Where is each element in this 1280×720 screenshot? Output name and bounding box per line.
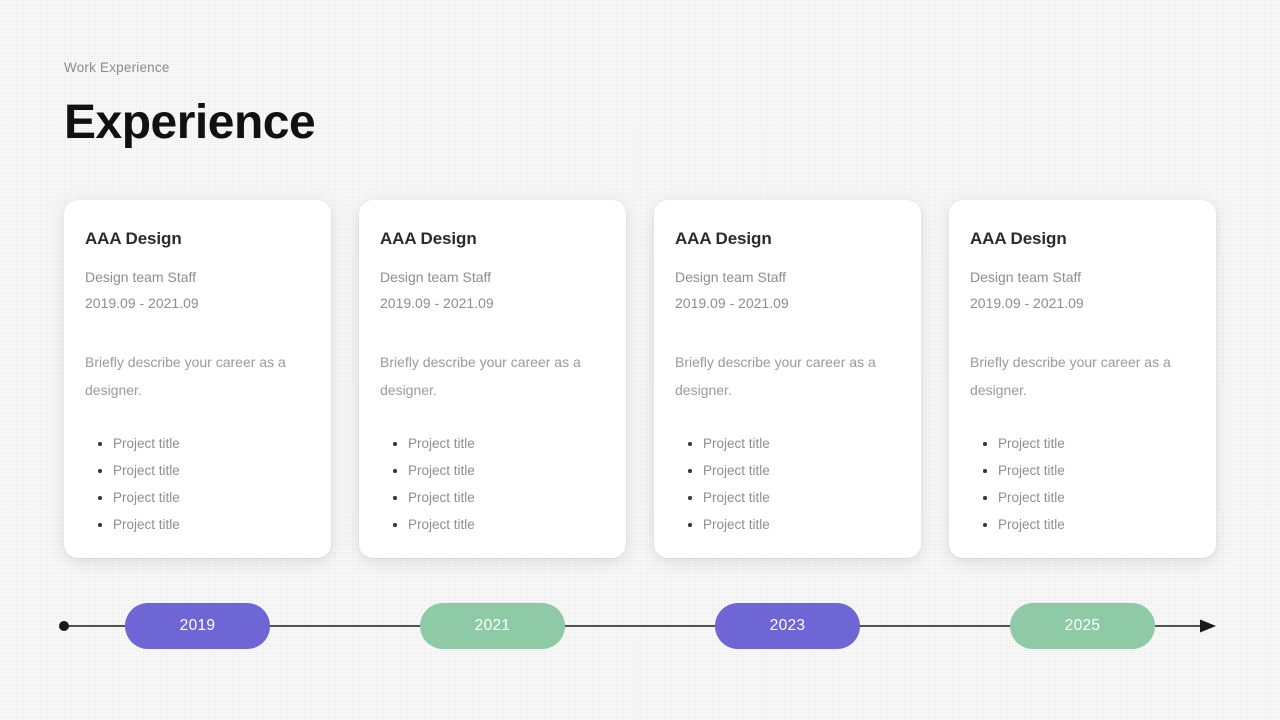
list-item: Project title — [970, 511, 1194, 538]
timeline-marker-2021[interactable]: 2021 — [420, 603, 565, 649]
list-item: Project title — [85, 484, 309, 511]
list-item: Project title — [380, 457, 604, 484]
card-dates: 2019.09 - 2021.09 — [970, 290, 1194, 316]
slide-header: Work Experience Experience — [64, 58, 315, 152]
list-item: Project title — [380, 511, 604, 538]
experience-card[interactable]: AAA Design Design team Staff 2019.09 - 2… — [64, 200, 331, 558]
card-project-list: Project title Project title Project titl… — [970, 430, 1194, 538]
card-description: Briefly describe your career as a design… — [380, 348, 590, 404]
list-item: Project title — [675, 457, 899, 484]
experience-cards-row: AAA Design Design team Staff 2019.09 - 2… — [64, 200, 1216, 558]
card-project-list: Project title Project title Project titl… — [85, 430, 309, 538]
card-company-name: AAA Design — [970, 228, 1194, 250]
list-item: Project title — [85, 430, 309, 457]
card-role: Design team Staff — [675, 264, 899, 290]
eyebrow-label: Work Experience — [64, 58, 315, 78]
list-item: Project title — [970, 484, 1194, 511]
card-dates: 2019.09 - 2021.09 — [380, 290, 604, 316]
card-company-name: AAA Design — [380, 228, 604, 250]
list-item: Project title — [675, 484, 899, 511]
card-description: Briefly describe your career as a design… — [675, 348, 885, 404]
list-item: Project title — [970, 430, 1194, 457]
card-company-name: AAA Design — [85, 228, 309, 250]
card-project-list: Project title Project title Project titl… — [380, 430, 604, 538]
experience-card[interactable]: AAA Design Design team Staff 2019.09 - 2… — [359, 200, 626, 558]
list-item: Project title — [85, 457, 309, 484]
list-item: Project title — [380, 430, 604, 457]
card-role: Design team Staff — [85, 264, 309, 290]
timeline-start-dot — [59, 621, 69, 631]
card-project-list: Project title Project title Project titl… — [675, 430, 899, 538]
card-dates: 2019.09 - 2021.09 — [85, 290, 309, 316]
experience-card[interactable]: AAA Design Design team Staff 2019.09 - 2… — [654, 200, 921, 558]
card-role: Design team Staff — [970, 264, 1194, 290]
list-item: Project title — [380, 484, 604, 511]
timeline-end-arrow-icon — [1200, 620, 1216, 633]
timeline-marker-2025[interactable]: 2025 — [1010, 603, 1155, 649]
experience-card[interactable]: AAA Design Design team Staff 2019.09 - 2… — [949, 200, 1216, 558]
card-description: Briefly describe your career as a design… — [85, 348, 295, 404]
slide-root: Work Experience Experience AAA Design De… — [0, 0, 1280, 720]
card-dates: 2019.09 - 2021.09 — [675, 290, 899, 316]
list-item: Project title — [675, 511, 899, 538]
list-item: Project title — [85, 511, 309, 538]
card-company-name: AAA Design — [675, 228, 899, 250]
timeline-marker-2023[interactable]: 2023 — [715, 603, 860, 649]
card-description: Briefly describe your career as a design… — [970, 348, 1180, 404]
page-title: Experience — [64, 94, 315, 152]
list-item: Project title — [675, 430, 899, 457]
card-role: Design team Staff — [380, 264, 604, 290]
timeline-marker-2019[interactable]: 2019 — [125, 603, 270, 649]
list-item: Project title — [970, 457, 1194, 484]
